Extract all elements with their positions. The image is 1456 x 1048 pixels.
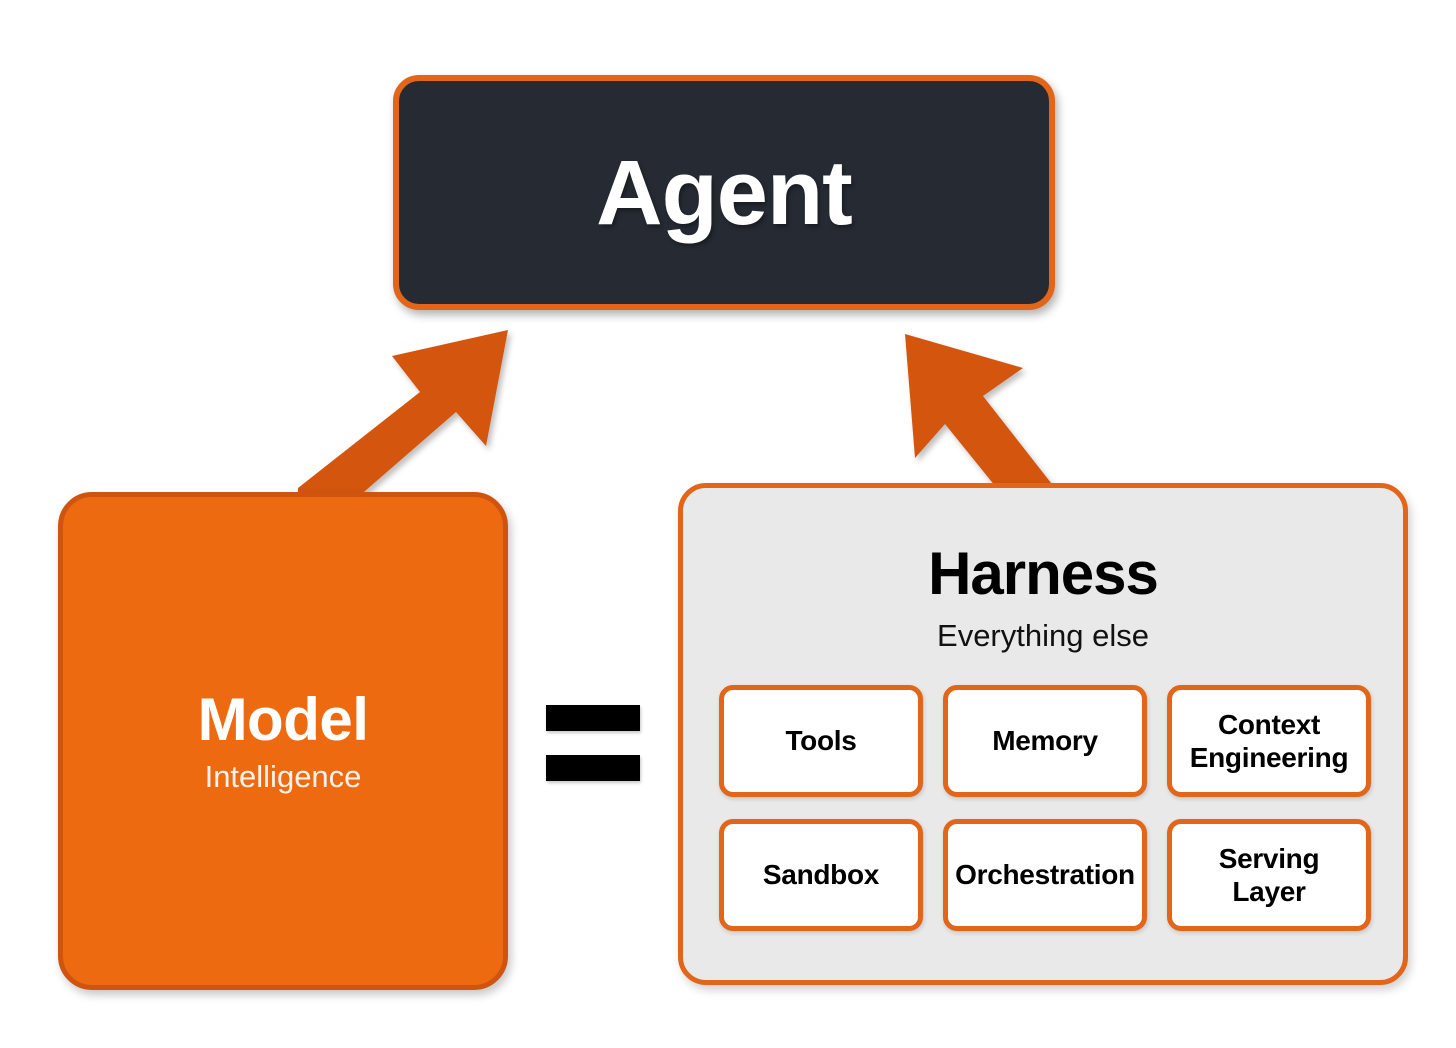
equals-bar-top: [546, 705, 640, 731]
agent-box: Agent: [393, 75, 1055, 310]
agent-label: Agent: [596, 147, 852, 239]
tile-label: Orchestration: [955, 858, 1135, 891]
model-label: Model: [198, 688, 369, 751]
equals-bar-bottom: [546, 755, 640, 781]
harness-tile-serving-layer: Serving Layer: [1167, 819, 1371, 931]
tile-label: Memory: [992, 724, 1098, 757]
harness-tile-orchestration: Orchestration: [943, 819, 1147, 931]
harness-tile-tools: Tools: [719, 685, 923, 797]
harness-tile-memory: Memory: [943, 685, 1147, 797]
tile-label: Sandbox: [763, 858, 879, 891]
tile-label: Tools: [785, 724, 856, 757]
harness-subtitle: Everything else: [683, 620, 1403, 651]
model-subtitle: Intelligence: [205, 761, 362, 794]
diagram-canvas: Agent Model Intelligence Harness Everyth…: [0, 0, 1456, 1048]
harness-panel: Harness Everything else Tools Memory Con…: [678, 483, 1408, 985]
model-box: Model Intelligence: [58, 492, 508, 990]
tile-label: Context Engineering: [1190, 708, 1349, 774]
harness-label: Harness: [683, 544, 1403, 604]
equals-sign: [546, 705, 640, 781]
harness-tile-sandbox: Sandbox: [719, 819, 923, 931]
harness-tile-grid: Tools Memory Context Engineering Sandbox…: [719, 685, 1371, 931]
tile-label: Serving Layer: [1219, 842, 1320, 908]
harness-tile-context-engineering: Context Engineering: [1167, 685, 1371, 797]
